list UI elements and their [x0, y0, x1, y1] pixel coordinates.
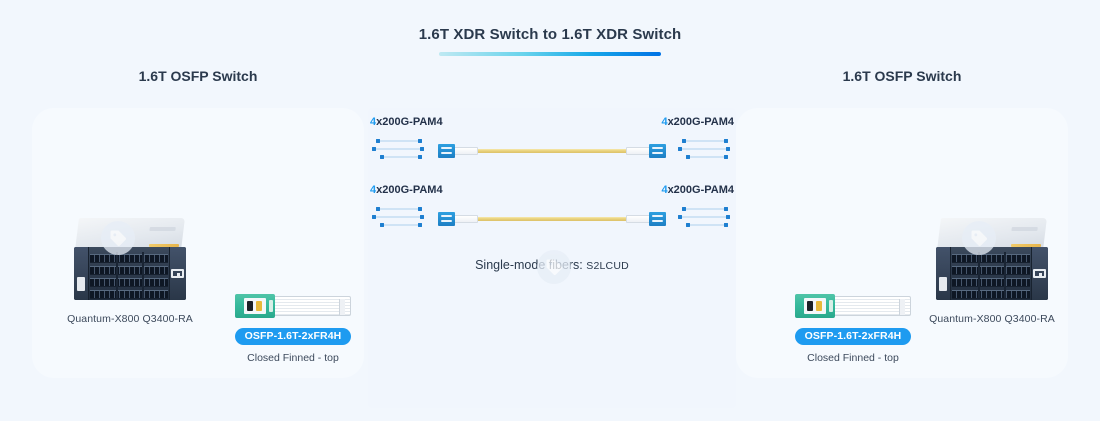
fiber-link-row: 4x200G-PAM4 4x200G-PAM4	[368, 184, 736, 248]
signal-arrow	[686, 224, 728, 226]
diagram-stage: 1.6T OSFP Switch 1.6T OSFP Switch Quantu…	[0, 68, 1100, 421]
transceiver-port	[807, 301, 813, 311]
top-link-right-signal-arrows	[678, 138, 732, 164]
switch-port-row	[90, 254, 168, 263]
transceiver-front-housing	[795, 294, 835, 318]
signal-arrow	[678, 216, 730, 218]
fiber-boot	[452, 215, 478, 223]
transceiver-module-icon	[235, 293, 351, 319]
lane-rate: x200G-PAM4	[668, 184, 734, 196]
signal-arrow	[682, 140, 728, 142]
transceiver-port	[247, 301, 253, 311]
fiber-link-row: 4x200G-PAM4 4x200G-PAM4	[368, 116, 736, 180]
signal-arrow	[678, 148, 730, 150]
switch-handle-icon	[171, 269, 184, 278]
fiber-core	[460, 217, 644, 221]
transceiver-port-cage	[804, 298, 826, 314]
signal-arrow	[372, 216, 424, 218]
switch-port-row	[90, 266, 168, 275]
switch-left-bezel	[936, 247, 951, 300]
transceiver-module-icon	[795, 293, 911, 319]
signal-arrow	[376, 140, 422, 142]
transceiver-latch	[269, 300, 273, 312]
switch-port-row	[90, 278, 168, 287]
page-title: 1.6T XDR Switch to 1.6T XDR Switch	[419, 26, 682, 44]
transceiver-port-cage	[244, 298, 266, 314]
lane-rate: x200G-PAM4	[376, 116, 442, 128]
switch-handle-icon	[1033, 269, 1046, 278]
right-transceiver-badge: OSFP-1.6T-2xFR4H	[795, 328, 912, 345]
switch-front-panel	[936, 247, 1048, 300]
switch-port-row	[952, 254, 1030, 263]
lane-rate: x200G-PAM4	[668, 116, 734, 128]
right-transceiver-subtitle: Closed Finned - top	[788, 352, 918, 364]
watermark-tag-icon	[962, 221, 996, 255]
transceiver-latch	[829, 300, 833, 312]
signal-arrow	[686, 156, 728, 158]
left-panel-title: 1.6T OSFP Switch	[32, 68, 364, 84]
page-header: 1.6T XDR Switch to 1.6T XDR Switch	[0, 0, 1100, 68]
transceiver-port	[816, 301, 822, 311]
signal-arrow	[372, 148, 424, 150]
switch-port-row	[952, 266, 1030, 275]
lc-connector-icon	[649, 212, 666, 226]
watermark-tag-icon	[101, 221, 135, 255]
switch-card-divider	[142, 252, 144, 298]
fiber-core	[460, 149, 644, 153]
left-device-caption: Quantum-X800 Q3400-RA	[55, 313, 205, 325]
right-transceiver: OSFP-1.6T-2xFR4H Closed Finned - top	[788, 293, 918, 364]
transceiver-port	[256, 301, 262, 311]
transceiver-front-housing	[235, 294, 275, 318]
transceiver-finned-body	[829, 296, 911, 316]
top-link-right-label: 4x200G-PAM4	[661, 116, 734, 128]
fiber-boot	[452, 147, 478, 155]
right-device-caption: Quantum-X800 Q3400-RA	[917, 313, 1067, 325]
lc-connector-icon	[438, 144, 455, 158]
lc-connector-icon	[649, 144, 666, 158]
switch-left-bezel	[74, 247, 89, 300]
signal-arrow	[380, 156, 422, 158]
bottom-link-left-label: 4x200G-PAM4	[370, 184, 443, 196]
switch-card-divider	[116, 252, 118, 298]
bottom-link-left-signal-arrows	[372, 206, 426, 232]
lc-connector-icon	[438, 212, 455, 226]
left-transceiver-subtitle: Closed Finned - top	[228, 352, 358, 364]
signal-arrow	[682, 208, 728, 210]
fiber-part-code: S2LCUD	[586, 260, 629, 272]
left-transceiver-badge: OSFP-1.6T-2xFR4H	[235, 328, 352, 345]
title-gradient-rule	[439, 52, 661, 56]
switch-front-panel	[74, 247, 186, 300]
switch-card-divider	[1004, 252, 1006, 298]
watermark-tag-icon	[537, 250, 571, 284]
transceiver-finned-body	[269, 296, 351, 316]
right-panel-title: 1.6T OSFP Switch	[736, 68, 1068, 84]
bottom-fiber-cable	[438, 214, 666, 224]
signal-arrow	[380, 224, 422, 226]
top-fiber-cable	[438, 146, 666, 156]
switch-port-row	[952, 290, 1030, 299]
bottom-link-right-label: 4x200G-PAM4	[661, 184, 734, 196]
top-link-left-signal-arrows	[372, 138, 426, 164]
left-transceiver: OSFP-1.6T-2xFR4H Closed Finned - top	[228, 293, 358, 364]
lane-rate: x200G-PAM4	[376, 184, 442, 196]
switch-port-row	[952, 278, 1030, 287]
top-link-left-label: 4x200G-PAM4	[370, 116, 443, 128]
signal-arrow	[376, 208, 422, 210]
switch-card-divider	[978, 252, 980, 298]
bottom-link-right-signal-arrows	[678, 206, 732, 232]
switch-port-row	[90, 290, 168, 299]
